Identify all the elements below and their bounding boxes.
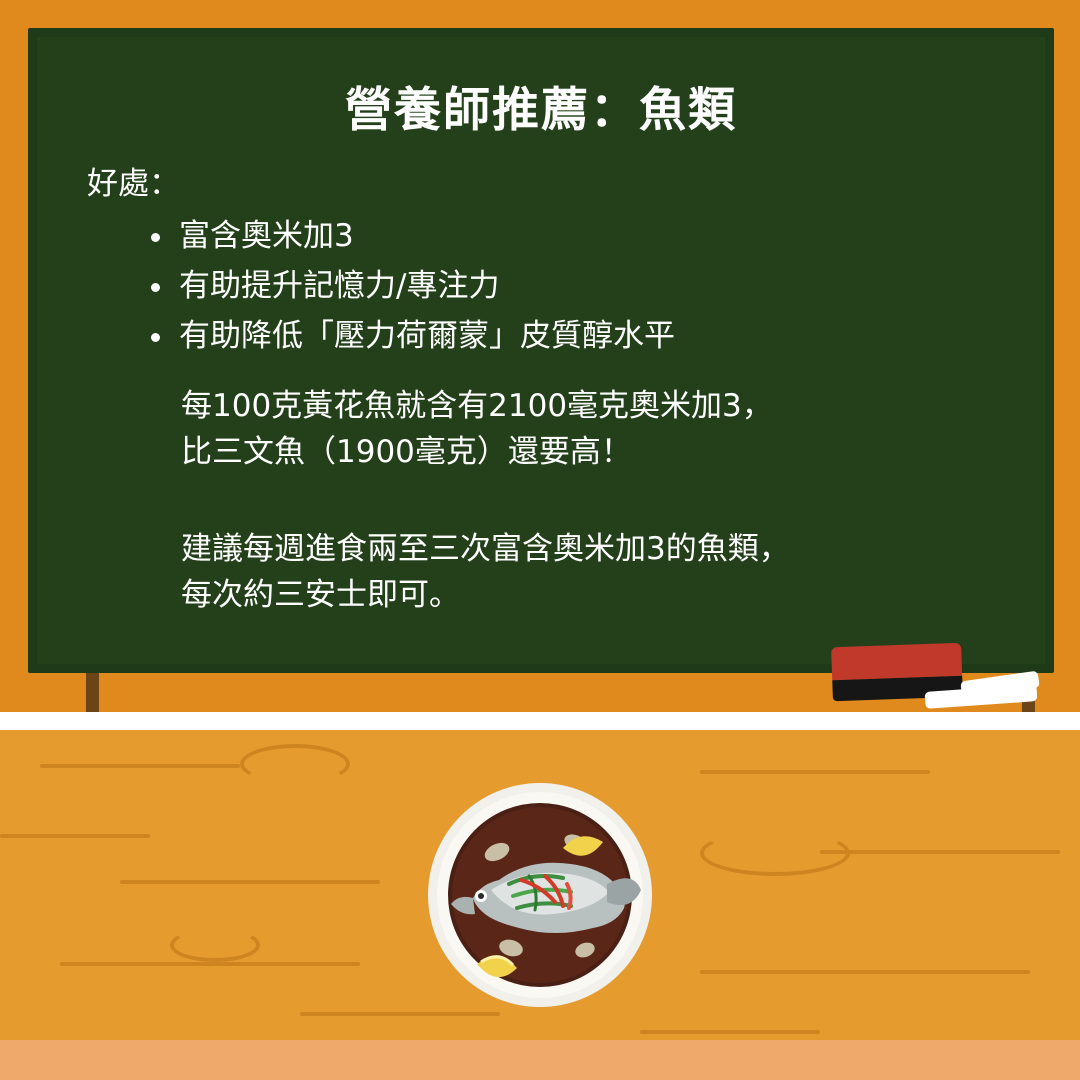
fish-dish-illustration [425,780,655,1010]
omega-fact-line-2: 比三文魚（1900毫克）還要高！ [181,430,971,476]
chalkboard-leg-left [86,668,99,714]
recommendation-line-1: 建議每週進食兩至三次富含奧米加3的魚類， [181,527,971,573]
page-title: 營養師推薦：魚類 [71,71,1011,140]
benefits-list: 富含奧米加3 有助提升記憶力/專注力 有助降低「壓力荷爾蒙」皮質醇水平 [149,211,1011,362]
omega-fact-paragraph: 每100克黃花魚就含有2100毫克奧米加3， 比三文魚（1900毫克）還要高！ [181,384,971,476]
chalkboard: 營養師推薦：魚類 好處： 富含奧米加3 有助提升記憶力/專注力 有助降低「壓力荷… [28,28,1054,673]
section-divider [0,712,1080,730]
poster: 營養師推薦：魚類 好處： 富含奧米加3 有助提升記憶力/專注力 有助降低「壓力荷… [0,0,1080,1080]
top-background: 營養師推薦：魚類 好處： 富含奧米加3 有助提升記憶力/專注力 有助降低「壓力荷… [0,0,1080,712]
benefits-label: 好處： [87,158,1011,203]
recommendation-line-2: 每次約三安士即可。 [181,573,971,619]
recommendation-paragraph: 建議每週進食兩至三次富含奧米加3的魚類， 每次約三安士即可。 [181,527,971,619]
steamed-fish-dish [425,780,655,1010]
wood-table-background [0,730,1080,1080]
eraser-top [831,643,962,681]
list-item: 有助提升記憶力/專注力 [149,261,1011,311]
chalkboard-content: 營養師推薦：魚類 好處： 富含奧米加3 有助提升記憶力/專注力 有助降低「壓力荷… [37,37,1045,664]
list-item: 富含奧米加3 [149,211,1011,261]
omega-fact-line-1: 每100克黃花魚就含有2100毫克奧米加3， [181,384,971,430]
bottom-strip [0,1040,1080,1080]
list-item: 有助降低「壓力荷爾蒙」皮質醇水平 [149,311,1011,361]
